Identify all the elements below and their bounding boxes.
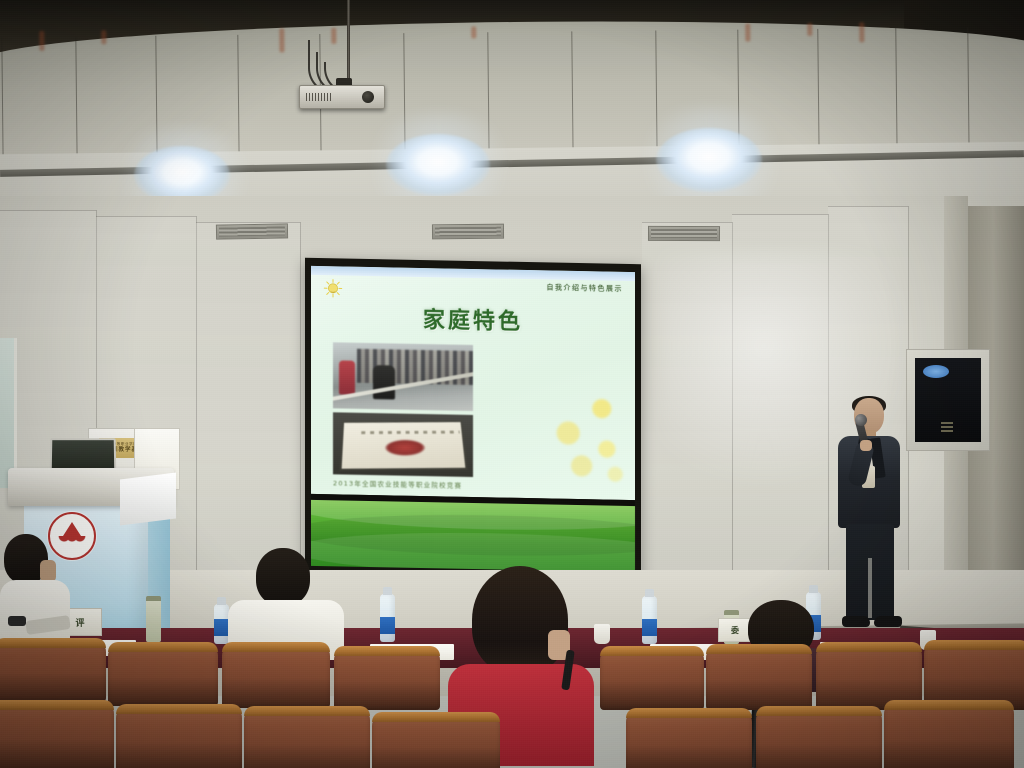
water-bottle[interactable] [642, 596, 657, 644]
slide-header-text: 自我介绍与特色展示 [547, 282, 624, 293]
water-bottle[interactable] [380, 594, 395, 642]
svg-text:‿: ‿ [330, 287, 336, 293]
auditorium-seat[interactable] [108, 642, 218, 706]
auditorium-photo: ‿ 自我介绍与特色展示 家庭特色 2013年全国农业技能等职业院校竞赛 [0, 0, 1024, 768]
slide-top-band [311, 266, 635, 281]
wall-display-panel[interactable] [915, 358, 981, 442]
auditorium-seat[interactable] [884, 700, 1014, 768]
auditorium-seat[interactable] [600, 646, 704, 710]
crowd-photo [333, 342, 473, 411]
desktop-wallpaper [311, 500, 635, 572]
auditorium-seat[interactable] [222, 642, 330, 708]
slide-footer-text: 2013年全国农业技能等职业院校竞赛 [333, 477, 462, 489]
ceiling-projector [299, 85, 385, 109]
projector-mount-pole [347, 0, 350, 88]
auditorium-seat[interactable] [756, 706, 882, 768]
tea-jar[interactable] [146, 600, 161, 642]
auditorium-seat[interactable] [334, 646, 440, 710]
auditorium-seat[interactable] [0, 700, 114, 768]
audience-face [40, 560, 56, 582]
blue-oval-logo-icon [923, 365, 949, 378]
auditorium-seat[interactable] [116, 704, 242, 768]
speaker-shoe [842, 616, 870, 627]
audience-head [256, 548, 310, 606]
water-bottle[interactable] [214, 604, 229, 644]
speaker-presenter [832, 398, 910, 636]
wristwatch [8, 616, 26, 626]
projection-screen: ‿ 自我介绍与特色展示 家庭特色 2013年全国农业技能等职业院校竞赛 [305, 258, 641, 584]
display-board-photo [333, 412, 473, 477]
speaker-shoe [874, 616, 902, 627]
panel-grille-icon [941, 422, 953, 432]
air-vent [216, 223, 288, 239]
auditorium-seat[interactable] [626, 708, 752, 768]
side-window [0, 338, 17, 488]
wall-panel-frame [906, 349, 990, 451]
speaker-leg-gap [868, 558, 872, 618]
auditorium-seat[interactable] [244, 706, 370, 768]
auditorium-seat[interactable] [0, 638, 106, 702]
auditorium-seat[interactable] [706, 644, 812, 710]
projector-vent-icon [306, 93, 332, 101]
auditorium-seat[interactable] [372, 712, 500, 768]
projector-lens-icon [362, 91, 374, 103]
slide-content: ‿ 自我介绍与特色展示 家庭特色 2013年全国农业技能等职业院校竞赛 [311, 266, 635, 500]
slide-title: 家庭特色 [311, 300, 635, 338]
lectern-cloth [120, 473, 176, 526]
ceiling-spotlight [656, 128, 762, 192]
air-vent [648, 226, 720, 241]
air-vent [432, 224, 504, 240]
slide-bokeh-decoration [543, 388, 627, 486]
sun-icon: ‿ [322, 277, 344, 299]
ceiling-spotlight [386, 134, 490, 196]
speaker-hand [860, 440, 872, 451]
audience-member-left [0, 534, 80, 652]
